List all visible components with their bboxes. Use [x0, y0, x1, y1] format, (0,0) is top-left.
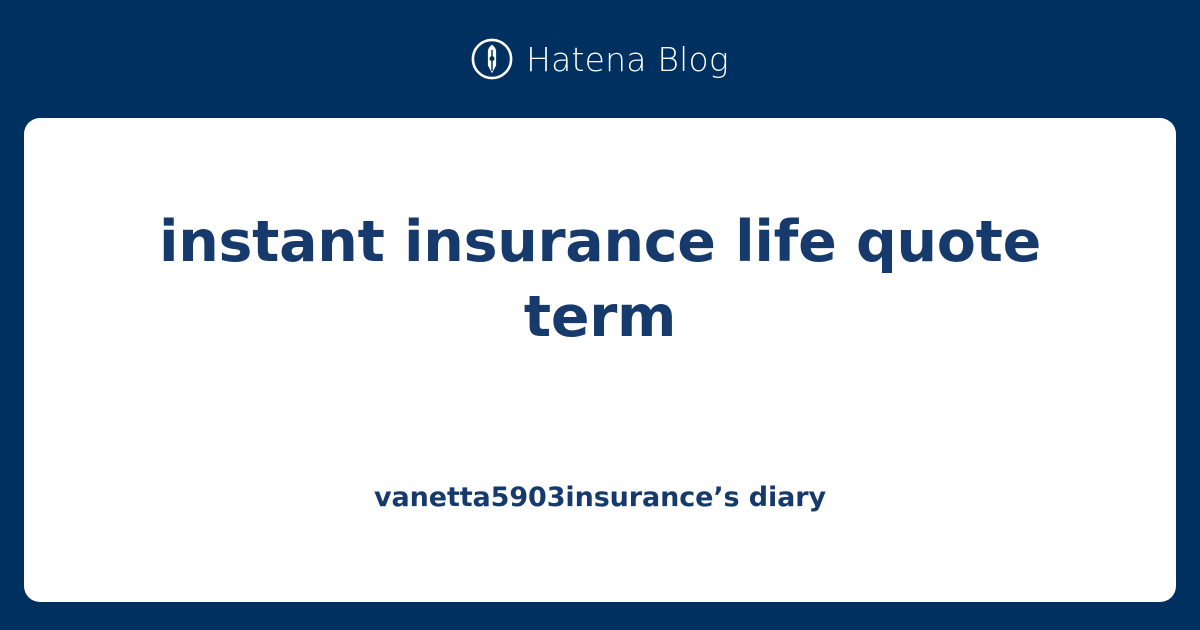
blog-name: vanetta5903insurance’s diary [374, 480, 826, 515]
og-image-canvas: Hatena Blog instant insurance life quote… [0, 0, 1200, 630]
brand-header: Hatena Blog [0, 0, 1200, 118]
hatena-blog-brand-lockup[interactable]: Hatena Blog [471, 35, 729, 83]
entry-title: instant insurance life quote term [150, 205, 1050, 357]
brand-wordmark: Hatena Blog [526, 43, 729, 76]
fountain-pen-nib-in-circle-icon [471, 38, 513, 80]
entry-card-inner: instant insurance life quote term vanett… [84, 205, 1116, 516]
entry-card: instant insurance life quote term vanett… [24, 118, 1176, 602]
